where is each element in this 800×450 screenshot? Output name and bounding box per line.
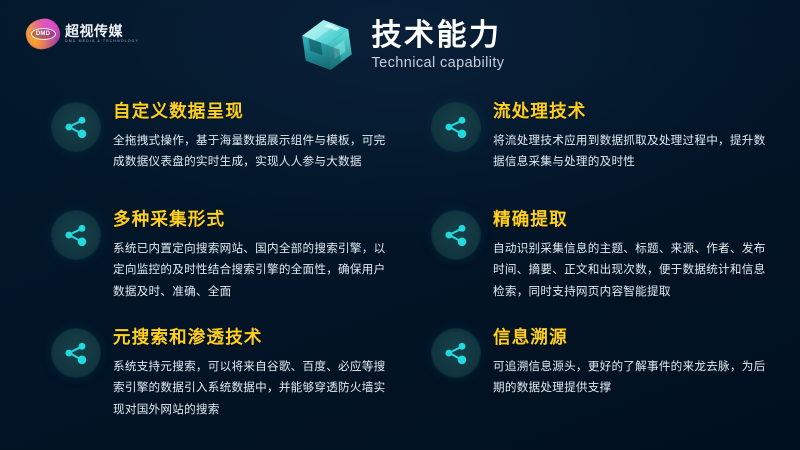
share-nodes-icon — [52, 329, 100, 377]
capability-item: 元搜索和渗透技术 系统支持元搜索，可以将来自谷歌、百度、必应等搜索引擎的数据引入… — [52, 326, 422, 430]
capability-body: 将流处理技术应用到数据抓取及处理过程中，提升数据信息采集与处理的及时性 — [493, 130, 771, 173]
logo-ring-text: DMD — [31, 28, 56, 40]
capability-body: 系统支持元搜索，可以将来自谷歌、百度、必应等搜索引擎的数据引入系统数据中，并能够… — [113, 356, 391, 420]
capability-body: 可追溯信息源头，更好的了解事件的来龙去脉，为后期的数据处理提供支撑 — [493, 356, 771, 399]
share-nodes-icon — [52, 103, 100, 151]
capability-text: 多种采集形式 系统已内置定向搜索网站、国内全部的搜索引擎，以定向监控的及时性结合… — [113, 208, 391, 312]
left-column: 自定义数据呈现 全拖拽式操作，基于海量数据展示组件与模板，可完成数据仪表盘的实时… — [52, 100, 422, 444]
slide-root: DMD 超视传媒 DMD MEDIA & TECHNOLOGY — [0, 0, 800, 450]
page-header: 技术能力 Technical capability — [0, 14, 800, 76]
capability-text: 精确提取 自动识别采集信息的主题、标题、来源、作者、发布时间、摘要、正文和出现次… — [493, 208, 771, 312]
page-title-block: 技术能力 Technical capability — [372, 19, 505, 71]
cube-icon — [296, 14, 358, 76]
capability-item: 多种采集形式 系统已内置定向搜索网站、国内全部的搜索引擎，以定向监控的及时性结合… — [52, 208, 422, 312]
capability-grid: 自定义数据呈现 全拖拽式操作，基于海量数据展示组件与模板，可完成数据仪表盘的实时… — [0, 100, 800, 444]
capability-body: 自动识别采集信息的主题、标题、来源、作者、发布时间、摘要、正文和出现次数，便于数… — [493, 238, 771, 302]
page-subtitle: Technical capability — [372, 55, 505, 71]
capability-item: 精确提取 自动识别采集信息的主题、标题、来源、作者、发布时间、摘要、正文和出现次… — [432, 208, 800, 312]
capability-heading: 信息溯源 — [493, 327, 771, 349]
right-column: 流处理技术 将流处理技术应用到数据抓取及处理过程中，提升数据信息采集与处理的及时… — [432, 100, 800, 444]
share-nodes-icon — [52, 211, 100, 259]
capability-text: 自定义数据呈现 全拖拽式操作，基于海量数据展示组件与模板，可完成数据仪表盘的实时… — [113, 100, 391, 194]
capability-text: 信息溯源 可追溯信息源头，更好的了解事件的来龙去脉，为后期的数据处理提供支撑 — [493, 326, 771, 430]
share-nodes-icon — [432, 211, 480, 259]
capability-item: 自定义数据呈现 全拖拽式操作，基于海量数据展示组件与模板，可完成数据仪表盘的实时… — [52, 100, 422, 194]
capability-text: 元搜索和渗透技术 系统支持元搜索，可以将来自谷歌、百度、必应等搜索引擎的数据引入… — [113, 326, 391, 430]
capability-body: 全拖拽式操作，基于海量数据展示组件与模板，可完成数据仪表盘的实时生成，实现人人参… — [113, 130, 391, 173]
capability-text: 流处理技术 将流处理技术应用到数据抓取及处理过程中，提升数据信息采集与处理的及时… — [493, 100, 771, 194]
capability-heading: 自定义数据呈现 — [113, 101, 391, 123]
capability-item: 信息溯源 可追溯信息源头，更好的了解事件的来龙去脉，为后期的数据处理提供支撑 — [432, 326, 800, 430]
capability-heading: 精确提取 — [493, 209, 771, 231]
capability-heading: 元搜索和渗透技术 — [113, 327, 391, 349]
page-title: 技术能力 — [372, 19, 505, 52]
capability-item: 流处理技术 将流处理技术应用到数据抓取及处理过程中，提升数据信息采集与处理的及时… — [432, 100, 800, 194]
capability-heading: 多种采集形式 — [113, 209, 391, 231]
share-nodes-icon — [432, 329, 480, 377]
capability-body: 系统已内置定向搜索网站、国内全部的搜索引擎，以定向监控的及时性结合搜索引擎的全面… — [113, 238, 391, 302]
capability-heading: 流处理技术 — [493, 101, 771, 123]
share-nodes-icon — [432, 103, 480, 151]
